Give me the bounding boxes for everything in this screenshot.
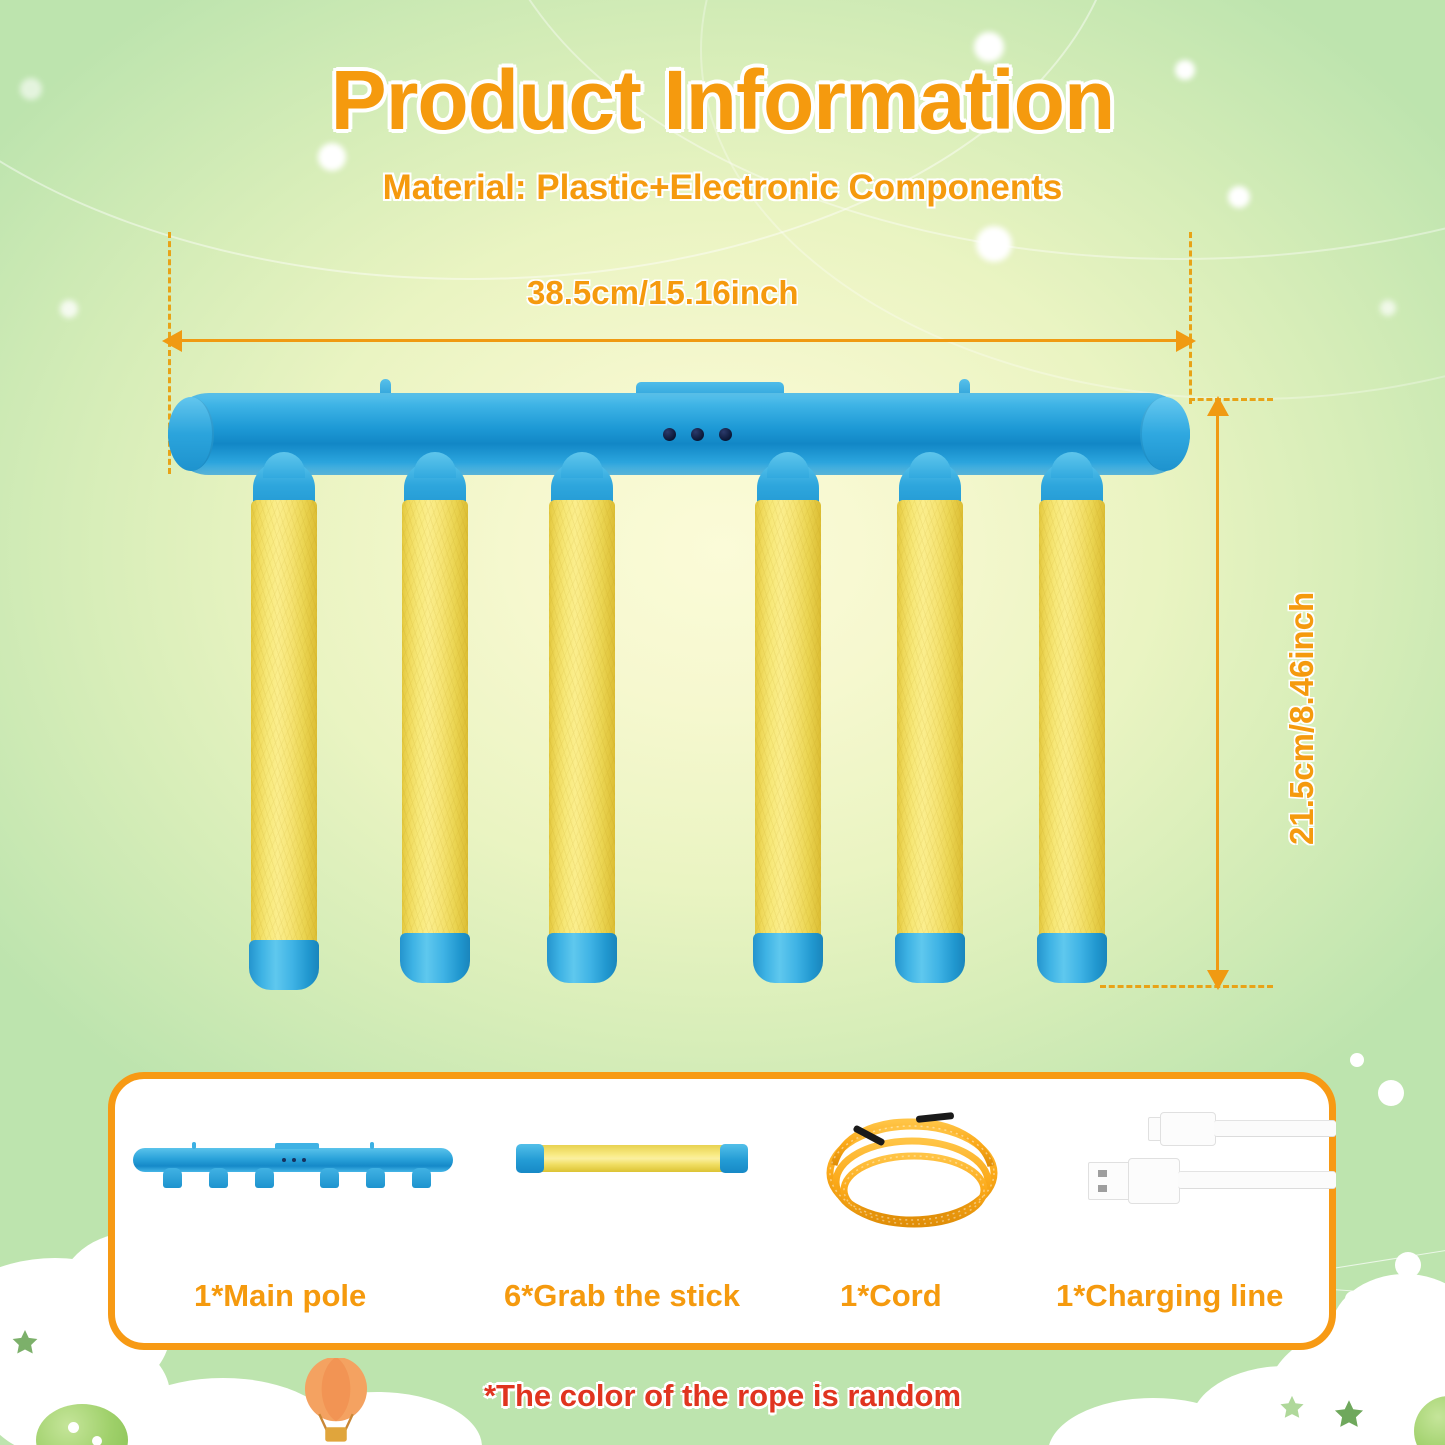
led-indicator — [292, 1158, 296, 1162]
bokeh-dot — [1380, 300, 1396, 316]
usb-a-housing — [1128, 1158, 1180, 1204]
stick-foot-cap — [400, 933, 470, 983]
extension-line-bottom — [1100, 985, 1273, 988]
stick-socket — [757, 462, 819, 520]
grab-stick-cap — [516, 1144, 544, 1173]
led-indicator — [719, 428, 732, 441]
mini-socket — [163, 1168, 182, 1188]
stick-socket — [253, 462, 315, 520]
led-indicator-group — [663, 428, 732, 441]
bokeh-dot — [1345, 1291, 1361, 1307]
main-pole-cap-left — [168, 397, 214, 471]
mini-led-group — [282, 1158, 306, 1162]
mini-socket — [255, 1168, 274, 1188]
bokeh-dot — [1378, 1080, 1404, 1106]
width-dimension-line — [180, 339, 1178, 342]
stick-socket — [1041, 462, 1103, 520]
grab-stick-cap — [720, 1144, 748, 1173]
stick-socket — [899, 462, 961, 520]
bokeh-dot — [1350, 1053, 1364, 1067]
stick-foot-cap — [547, 933, 617, 983]
usb-a-tip — [1088, 1162, 1130, 1200]
mini-socket — [366, 1168, 385, 1188]
mini-pole-tab — [192, 1142, 196, 1149]
micro-usb-housing — [1160, 1112, 1216, 1146]
bokeh-dot — [92, 1436, 102, 1445]
bokeh-dot — [67, 1284, 89, 1306]
height-dimension-line — [1216, 414, 1219, 974]
height-arrow-up — [1207, 396, 1229, 416]
led-indicator — [663, 428, 676, 441]
bokeh-dot — [68, 1422, 79, 1433]
stick-socket — [551, 462, 613, 520]
accessory-label-cord: 1*Cord — [840, 1278, 942, 1314]
star-icon — [10, 1328, 40, 1358]
stick-foot-cap — [1037, 933, 1107, 983]
led-indicator — [302, 1158, 306, 1162]
cord-icon — [812, 1110, 1012, 1230]
stick-foot-cap — [753, 933, 823, 983]
main-pole-cap-right — [1140, 397, 1190, 471]
mini-pole-tab — [370, 1142, 374, 1149]
product-information-page: Product Information Material: Plastic+El… — [0, 0, 1445, 1445]
accessory-label-grab-stick: 6*Grab the stick — [504, 1278, 740, 1314]
cable-wire — [1178, 1171, 1336, 1189]
accessory-label-charging-line: 1*Charging line — [1056, 1278, 1283, 1314]
accessory-label-main-pole: 1*Main pole — [194, 1278, 366, 1314]
grab-stick-icon — [528, 1145, 738, 1172]
bokeh-dot — [60, 300, 78, 318]
usb-contact — [1098, 1185, 1107, 1192]
grab-stick — [897, 500, 963, 950]
width-arrow-right — [1176, 330, 1196, 352]
led-indicator — [282, 1158, 286, 1162]
width-arrow-left — [162, 330, 182, 352]
usb-contact — [1098, 1170, 1107, 1177]
stick-foot-cap — [895, 933, 965, 983]
pole-tab — [380, 379, 391, 399]
extension-line-right — [1189, 232, 1192, 404]
width-dimension-label: 38.5cm/15.16inch — [527, 274, 799, 312]
height-dimension-label: 21.5cm/8.46inch — [1283, 592, 1321, 845]
stick-foot-cap — [249, 940, 319, 990]
stick-socket — [404, 462, 466, 520]
accessory-cord-graphic — [812, 1110, 1012, 1230]
grab-stick — [549, 500, 615, 950]
main-pole-body — [168, 393, 1190, 475]
grab-stick — [402, 500, 468, 950]
grab-stick — [755, 500, 821, 950]
mini-battery-cover — [275, 1143, 319, 1149]
material-subtitle: Material: Plastic+Electronic Components — [0, 168, 1445, 208]
pole-battery-cover — [636, 382, 784, 399]
cable-wire — [1214, 1120, 1336, 1137]
bokeh-dot — [976, 226, 1012, 262]
led-indicator — [691, 428, 704, 441]
extension-line-top — [1189, 398, 1273, 401]
grab-stick — [1039, 500, 1105, 950]
pole-tab — [959, 379, 970, 399]
mini-socket — [320, 1168, 339, 1188]
rope-color-note: *The color of the rope is random — [0, 1378, 1445, 1414]
mini-socket — [209, 1168, 228, 1188]
bokeh-dot — [1395, 1252, 1421, 1278]
height-arrow-down — [1207, 970, 1229, 990]
extension-line-left — [168, 232, 171, 474]
cloud-shape — [1330, 1274, 1445, 1394]
page-title: Product Information — [0, 52, 1445, 149]
grab-stick — [251, 500, 317, 960]
mini-socket — [412, 1168, 431, 1188]
